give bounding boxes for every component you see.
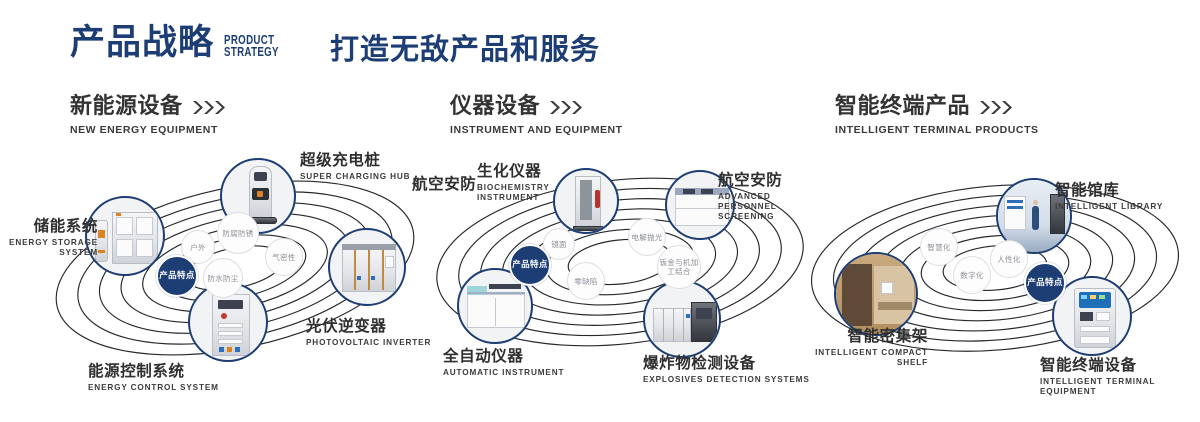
node-label-en: ENERGY STORAGE SYSTEM xyxy=(0,238,98,258)
node-label-en: INTELLIGENT COMPACT SHELF xyxy=(810,348,928,368)
node-label-en: EXPLOSIVES DETECTION SYSTEMS xyxy=(643,375,810,385)
node-label-energy-storage-system: 储能系统 ENERGY STORAGE SYSTEM xyxy=(0,218,98,258)
pv-inverter-cabinet-image xyxy=(330,230,404,304)
product-feature-badge: 产品特点 xyxy=(509,244,551,286)
node-label-cn: 储能系统 xyxy=(0,218,98,236)
section-heading-cn-text: 新能源设备 xyxy=(70,95,183,119)
product-feature-badge-text: 产品特点 xyxy=(1027,278,1063,288)
compact-shelving-image xyxy=(836,254,916,334)
node-label-en: SUPER CHARGING HUB xyxy=(300,172,410,182)
product-feature-badge: 产品特点 xyxy=(156,255,198,297)
self-service-kiosk-image xyxy=(1054,278,1130,354)
node-label-intelligent-library: 智能馆库 INTELLIGENT LIBRARY xyxy=(1055,182,1163,212)
node-label-en: PHOTOVOLTAIC INVERTER xyxy=(306,338,431,348)
section-heading-cn-text: 仪器设备 xyxy=(450,95,540,119)
label-cn: 航空安防 xyxy=(412,176,476,194)
node-intelligent-compact-shelf[interactable] xyxy=(834,252,918,336)
section-heading-instrument: 仪器设备 INSTRUMENT AND EQUIPMENT xyxy=(450,95,623,136)
page-slogan: 打造无敌产品和服务 xyxy=(330,32,600,67)
section-heading-cn: 智能终端产品 xyxy=(835,95,1039,119)
node-label-cn: 智能馆库 xyxy=(1055,182,1163,200)
node-label-en: INTELLIGENT TERMINAL EQUIPMENT xyxy=(1040,377,1200,397)
node-label-energy-control-system: 能源控制系统 ENERGY CONTROL SYSTEM xyxy=(88,363,219,393)
node-photovoltaic-inverter[interactable] xyxy=(328,228,406,306)
product-feature-badge-text: 产品特点 xyxy=(159,271,195,281)
feature-bubble: 防水防尘 xyxy=(203,258,243,298)
node-label-cn: 全自动仪器 xyxy=(443,348,564,366)
node-label-cn: 智能终端设备 xyxy=(1040,357,1200,375)
node-label-biochemistry-instrument: 生化仪器 BIOCHEMISTRY INSTRUMENT xyxy=(477,163,569,203)
page-title-cn: 产品战略 xyxy=(70,26,214,61)
section-heading-en: INTELLIGENT TERMINAL PRODUCTS xyxy=(835,124,1039,136)
label-aviation-security-left: 航空安防 xyxy=(412,176,476,194)
triple-chevron-right-icon xyxy=(193,101,227,114)
node-label-en: BIOCHEMISTRY INSTRUMENT xyxy=(477,183,569,203)
node-label-intelligent-terminal-equipment: 智能终端设备 INTELLIGENT TERMINAL EQUIPMENT xyxy=(1040,357,1200,397)
node-label-cn: 智能密集架 xyxy=(810,328,928,346)
triple-chevron-right-icon xyxy=(980,101,1014,114)
node-label-cn: 爆炸物检测设备 xyxy=(643,355,810,373)
energy-storage-cabinet-image xyxy=(87,198,163,274)
feature-bubble: 人性化 xyxy=(990,240,1028,278)
node-label-super-charging-hub: 超级充电桩 SUPER CHARGING HUB xyxy=(300,152,410,182)
node-label-explosives-detection-systems: 爆炸物检测设备 EXPLOSIVES DETECTION SYSTEMS xyxy=(643,355,810,385)
page-title-en: PRODUCT STRATEGY xyxy=(224,34,279,58)
node-label-en: ENERGY CONTROL SYSTEM xyxy=(88,383,219,393)
feature-bubble: 防腐防锈 xyxy=(217,212,259,254)
section-heading-new-energy: 新能源设备 NEW ENERGY EQUIPMENT xyxy=(70,95,227,136)
feature-bubble: 智慧化 xyxy=(920,228,958,266)
section-heading-en: INSTRUMENT AND EQUIPMENT xyxy=(450,124,623,136)
node-label-en: AUTOMATIC INSTRUMENT xyxy=(443,368,564,378)
node-explosives-detection-systems[interactable] xyxy=(643,280,721,358)
feature-bubble: 钣金与机加工结合 xyxy=(657,245,701,289)
node-label-photovoltaic-inverter: 光伏逆变器 PHOTOVOLTAIC INVERTER xyxy=(306,318,431,348)
section-heading-en: NEW ENERGY EQUIPMENT xyxy=(70,124,227,136)
section-heading-intelligent-terminal: 智能终端产品 INTELLIGENT TERMINAL PRODUCTS xyxy=(835,95,1039,136)
node-label-cn: 能源控制系统 xyxy=(88,363,219,381)
section-heading-cn: 仪器设备 xyxy=(450,95,623,119)
triple-chevron-right-icon xyxy=(550,101,584,114)
section-heading-cn: 新能源设备 xyxy=(70,95,227,119)
page-title-en-line2: STRATEGY xyxy=(224,46,279,58)
feature-bubble: 零缺陷 xyxy=(567,262,605,300)
node-label-intelligent-compact-shelf: 智能密集架 INTELLIGENT COMPACT SHELF xyxy=(810,328,928,368)
feature-bubble: 电解抛光 xyxy=(628,218,666,256)
node-label-en: INTELLIGENT LIBRARY xyxy=(1055,202,1163,212)
feature-bubble: 气密性 xyxy=(265,238,303,276)
page-title: 产品战略 PRODUCT STRATEGY xyxy=(70,26,294,61)
section-heading-cn-text: 智能终端产品 xyxy=(835,95,970,119)
feature-bubble: 数字化 xyxy=(953,256,991,294)
explosives-detector-image xyxy=(645,282,719,356)
node-label-cn: 生化仪器 xyxy=(477,163,569,181)
node-label-cn: 光伏逆变器 xyxy=(306,318,431,336)
poster-canvas: 产品战略 PRODUCT STRATEGY 打造无敌产品和服务 新能源设备 NE… xyxy=(0,0,1200,422)
product-feature-badge: 产品特点 xyxy=(1024,262,1066,304)
product-feature-badge-text: 产品特点 xyxy=(512,260,548,270)
node-label-automatic-instrument: 全自动仪器 AUTOMATIC INSTRUMENT xyxy=(443,348,564,378)
node-label-cn: 超级充电桩 xyxy=(300,152,410,170)
